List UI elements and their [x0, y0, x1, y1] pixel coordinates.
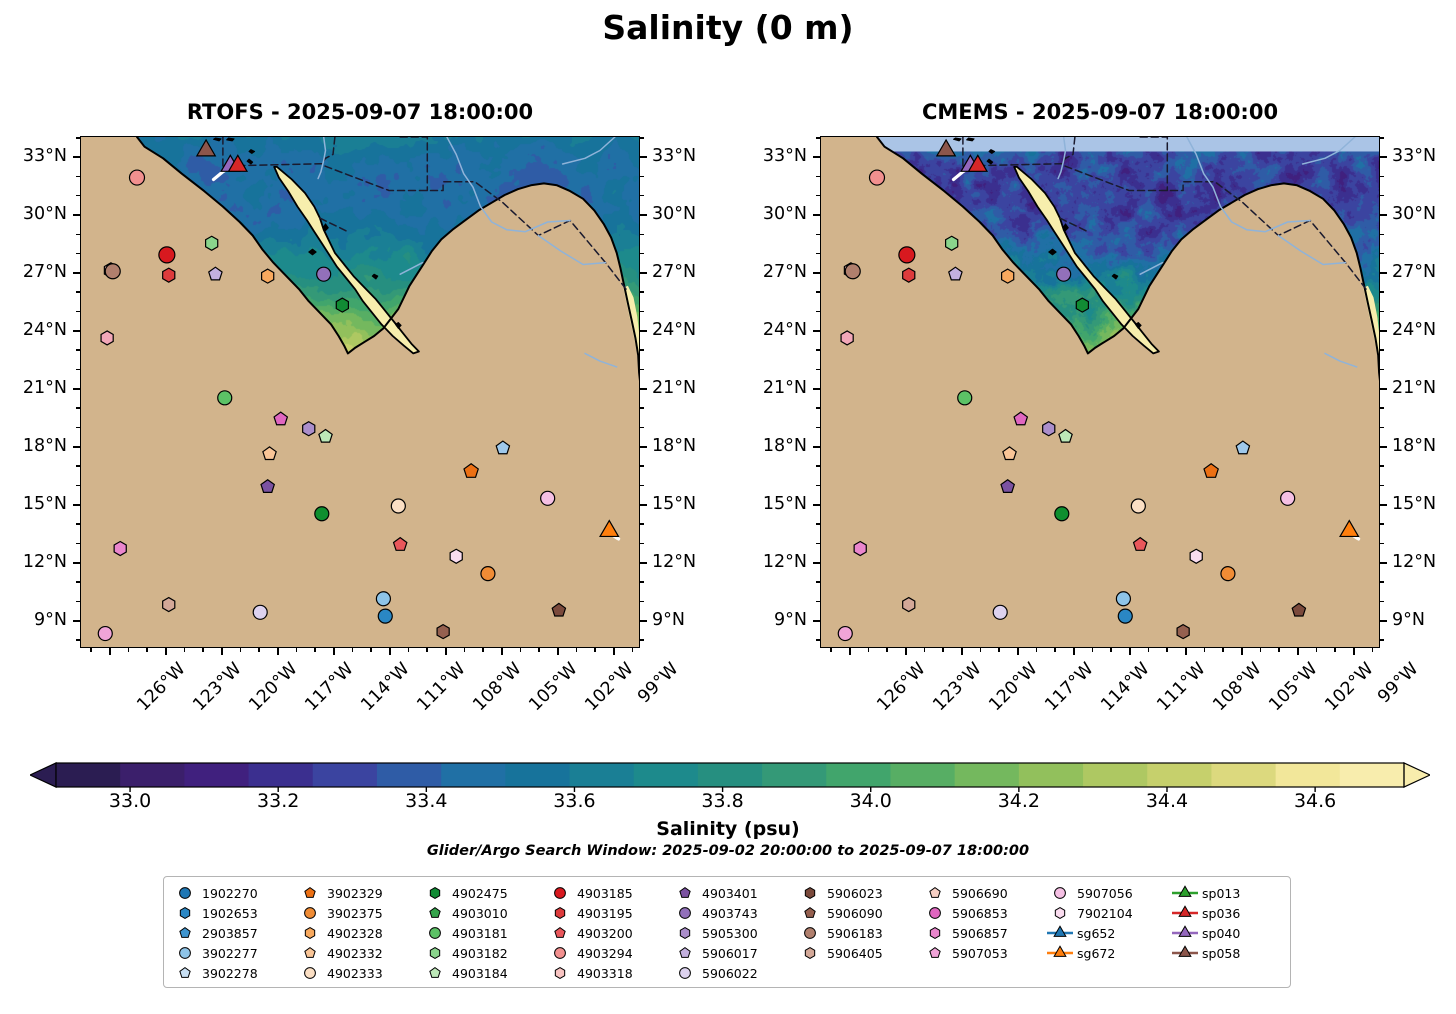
cmems-xminor--100: [1334, 648, 1336, 652]
cmems-xtick--126: [849, 648, 851, 655]
rtofs-xtick--102: [557, 648, 559, 655]
legend-item-sp013[interactable]: sp013: [1170, 883, 1295, 903]
marker-5906857[interactable]: [114, 542, 126, 556]
legend-marker-2903857: [170, 924, 200, 942]
rtofs-xtick--120: [221, 648, 223, 655]
colorbar-ticklabel: 33.0: [80, 790, 180, 812]
legend-item-1902270[interactable]: 1902270: [170, 883, 295, 903]
legend-item-sp058[interactable]: sp058: [1170, 943, 1295, 963]
marker-5905300[interactable]: [1043, 422, 1055, 436]
colorbar-ticklabel: 33.6: [524, 790, 624, 812]
island-2: [214, 138, 222, 141]
cmems-ytick-r-18: [1380, 446, 1387, 448]
legend-label: 4903182: [450, 946, 508, 961]
cmems-ylabel-r-9: 9°N: [1392, 610, 1456, 630]
cmems-ylabel-24: 24°N: [721, 320, 807, 340]
marker-3902277[interactable]: [376, 592, 390, 606]
legend-marker-5906017: [670, 944, 700, 962]
legend-marker-sg672: [1045, 944, 1075, 962]
legend-marker-5906405: [795, 944, 825, 962]
marker-4903185[interactable]: [899, 247, 915, 263]
cmems-ylabel-r-30: 30°N: [1392, 204, 1456, 224]
legend-item-7902104[interactable]: 7902104: [1045, 903, 1170, 923]
rtofs-yminor-25: [76, 311, 80, 313]
cmems-xminor--125: [868, 648, 870, 652]
legend-item-3902329[interactable]: 3902329: [295, 883, 420, 903]
rtofs-yminor-r-13: [640, 543, 644, 545]
rtofs-xtick--99: [613, 648, 615, 655]
rtofs-xminor--101: [576, 648, 578, 652]
marker-5906090[interactable]: [437, 625, 449, 639]
cmems-ylabel-21: 21°N: [721, 378, 807, 398]
cmems-yminor-20: [816, 407, 820, 409]
legend-label: sg652: [1075, 926, 1115, 941]
marker-5907053[interactable]: [838, 627, 852, 641]
marker-5906022[interactable]: [993, 605, 1007, 619]
rtofs-yminor-8: [76, 639, 80, 641]
rtofs-xminor--109: [426, 648, 428, 652]
rtofs-yminor-r-11: [640, 581, 644, 583]
rtofs-xtick--114: [333, 648, 335, 655]
cmems-ylabel-r-12: 12°N: [1392, 552, 1456, 572]
marker-5905300[interactable]: [303, 422, 315, 436]
legend-item-4902333[interactable]: 4902333: [295, 963, 420, 983]
legend-item-5906405[interactable]: 5906405: [795, 943, 920, 963]
marker-3902277[interactable]: [1116, 592, 1130, 606]
rtofs-yminor-28: [76, 253, 80, 255]
cmems-xminor--115: [1054, 648, 1056, 652]
legend-item-3902375[interactable]: 3902375: [295, 903, 420, 923]
rtofs-yminor-34: [76, 137, 80, 139]
legend-label: 3902375: [325, 906, 383, 921]
cmems-xminor--109: [1166, 648, 1168, 652]
rtofs-panel-title: RTOFS - 2025-09-07 18:00:00: [80, 100, 640, 124]
legend-item-5906022[interactable]: 5906022: [670, 963, 795, 983]
legend-marker-sp036: [1170, 904, 1200, 922]
rtofs-ytick-r-12: [640, 562, 647, 564]
cmems-xtick--123: [905, 648, 907, 655]
legend-item-4902332[interactable]: 4902332: [295, 943, 420, 963]
legend-marker-3902375: [295, 904, 325, 922]
cmems-yminor-23: [816, 349, 820, 351]
cmems-ylabel-12: 12°N: [721, 552, 807, 572]
cmems-ytick-30: [813, 214, 820, 216]
colorbar-extend-low: [30, 763, 56, 787]
legend-item-4903010[interactable]: 4903010: [420, 903, 545, 923]
legend-marker-4903182: [420, 944, 450, 962]
cmems-xminor--121: [942, 648, 944, 652]
cmems-xminor--119: [980, 648, 982, 652]
legend-item-4903184[interactable]: 4903184: [420, 963, 545, 983]
rtofs-yminor-r-8: [640, 639, 644, 641]
legend-label: 4903195: [575, 906, 633, 921]
rtofs-yminor-r-20: [640, 407, 644, 409]
marker-4903182[interactable]: [206, 236, 218, 250]
legend-item-4903181[interactable]: 4903181: [420, 923, 545, 943]
legend-item-5906017[interactable]: 5906017: [670, 943, 795, 963]
cmems-xtick--111: [1129, 648, 1131, 655]
legend-marker-5907056: [1045, 884, 1075, 902]
rtofs-yminor-31: [76, 195, 80, 197]
legend-item-sp036[interactable]: sp036: [1170, 903, 1295, 923]
marker-4902333[interactable]: [391, 499, 405, 513]
legend-label: 5906090: [825, 906, 883, 921]
legend-label: 4903318: [575, 966, 633, 981]
cmems-yminor-r-32: [1380, 176, 1384, 178]
cmems-yminor-r-13: [1380, 543, 1384, 545]
cmems-yminor-r-25: [1380, 311, 1384, 313]
legend-item-4903294[interactable]: 4903294: [545, 943, 670, 963]
colorbar-segment: [1276, 763, 1341, 787]
cmems-yminor-17: [816, 465, 820, 467]
legend-grid: 1902270390232949024754903185490340159060…: [170, 883, 1295, 983]
rtofs-xtick--117: [277, 648, 279, 655]
legend-item-5906183[interactable]: 5906183: [795, 923, 920, 943]
legend-label: 1902653: [200, 906, 258, 921]
cmems-ylabel-r-21: 21°N: [1392, 378, 1456, 398]
legend-label: 5905300: [700, 926, 758, 941]
cmems-ytick-33: [813, 156, 820, 158]
rtofs-xminor--103: [538, 648, 540, 652]
cmems-ytick-r-21: [1380, 388, 1387, 390]
cmems-xlabel--105: 105°W: [1265, 659, 1321, 715]
legend-marker-4903294: [545, 944, 575, 962]
rtofs-xlabel--99: 99°W: [634, 659, 682, 707]
cmems-ylabel-r-24: 24°N: [1392, 320, 1456, 340]
marker-5906022[interactable]: [253, 605, 267, 619]
marker-4903743[interactable]: [317, 267, 331, 281]
legend-item-4902328[interactable]: 4902328: [295, 923, 420, 943]
marker-4902332b[interactable]: [903, 598, 915, 612]
legend-marker-4903010: [420, 904, 450, 922]
cmems-yminor-29: [816, 234, 820, 236]
colorbar-segment: [1083, 763, 1148, 787]
marker-4902332b[interactable]: [163, 598, 175, 612]
marker-5906090[interactable]: [1177, 625, 1189, 639]
marker-4903743[interactable]: [1057, 267, 1071, 281]
rtofs-ytick-12: [73, 562, 80, 564]
legend-label: 4902475: [450, 886, 508, 901]
cmems-xlabel--108: 108°W: [1209, 659, 1265, 715]
rtofs-xtick--105: [501, 648, 503, 655]
cmems-ytick-18: [813, 446, 820, 448]
rtofs-xminor--119: [240, 648, 242, 652]
cmems-xminor--122: [924, 648, 926, 652]
legend-item-5907053[interactable]: 5907053: [920, 943, 1045, 963]
legend-marker-5906690: [920, 884, 950, 902]
river-0: [318, 137, 325, 179]
marker-4903181[interactable]: [958, 391, 972, 405]
cmems-xtick--105: [1241, 648, 1243, 655]
figure-canvas: Salinity (0 m) RTOFS - 2025-09-07 18:00:…: [0, 0, 1456, 1014]
legend-label: 7902104: [1075, 906, 1133, 921]
legend-item-empty: [1170, 963, 1295, 983]
legend-marker-3902278: [170, 964, 200, 982]
marker-7902104[interactable]: [1190, 549, 1202, 563]
cmems-yminor-25: [816, 311, 820, 313]
rtofs-ytick-9: [73, 620, 80, 622]
marker-4903185[interactable]: [159, 247, 175, 263]
rtofs-yminor-r-34: [640, 137, 644, 139]
cmems-xtick--108: [1185, 648, 1187, 655]
marker-1902653[interactable]: [378, 609, 392, 623]
legend-label: sp036: [1200, 906, 1240, 921]
cmems-ylabel-r-27: 27°N: [1392, 262, 1456, 282]
legend-marker-4902475: [420, 884, 450, 902]
rtofs-map-panel[interactable]: [80, 136, 640, 648]
legend-marker-5907053: [920, 944, 950, 962]
colorbar-segment: [634, 763, 699, 787]
cmems-map-panel[interactable]: [820, 136, 1380, 648]
rtofs-xminor--106: [482, 648, 484, 652]
rtofs-yminor-r-17: [640, 465, 644, 467]
legend-label: 4903010: [450, 906, 508, 921]
border-2: [400, 137, 427, 191]
cmems-ytick-r-9: [1380, 620, 1387, 622]
marker-5907056[interactable]: [541, 491, 555, 505]
marker-4903294[interactable]: [870, 170, 885, 185]
marker-3902375[interactable]: [1221, 567, 1235, 581]
colorbar-segment: [1340, 763, 1405, 787]
legend-item-4903743[interactable]: 4903743: [670, 903, 795, 923]
rtofs-xminor--107: [464, 648, 466, 652]
legend-item-sg672[interactable]: sg672: [1045, 943, 1170, 963]
rtofs-yminor-r-16: [640, 485, 644, 487]
rtofs-yminor-r-14: [640, 523, 644, 525]
cmems-xlabel--111: 111°W: [1153, 659, 1209, 715]
legend-label: 5906017: [700, 946, 758, 961]
marker-4903195[interactable]: [903, 268, 915, 282]
salinity-colorbar[interactable]: [30, 762, 1430, 792]
marker-1902653[interactable]: [1118, 609, 1132, 623]
marker-4902333[interactable]: [1131, 499, 1145, 513]
legend-marker-3902329: [295, 884, 325, 902]
cmems-xtick--117: [1017, 648, 1019, 655]
rtofs-xminor--122: [184, 648, 186, 652]
legend-item-4903182[interactable]: 4903182: [420, 943, 545, 963]
marker-4903294b[interactable]: [841, 331, 853, 345]
cmems-ytick-r-24: [1380, 330, 1387, 332]
cmems-xlabel--114: 114°W: [1097, 659, 1153, 715]
legend-marker-sp013: [1170, 884, 1200, 902]
marker-4902475[interactable]: [336, 298, 348, 312]
marker-5906183[interactable]: [105, 264, 120, 279]
legend-item-sp040[interactable]: sp040: [1170, 923, 1295, 943]
cmems-ylabel-15: 15°N: [721, 494, 807, 514]
cmems-yminor-r-29: [1380, 234, 1384, 236]
cmems-panel-title: CMEMS - 2025-09-07 18:00:00: [820, 100, 1380, 124]
marker-4902475[interactable]: [1076, 298, 1088, 312]
legend-marker-5906090: [795, 904, 825, 922]
colorbar-svg[interactable]: [30, 762, 1430, 792]
rtofs-ytick-r-9: [640, 620, 647, 622]
rtofs-xminor--104: [520, 648, 522, 652]
legend-marker-1902270: [170, 884, 200, 902]
marker-3902375[interactable]: [481, 567, 495, 581]
cmems-ylabel-30: 30°N: [721, 204, 807, 224]
rtofs-yminor-r-28: [640, 253, 644, 255]
rtofs-yminor-r-31: [640, 195, 644, 197]
legend-item-1902653[interactable]: 1902653: [170, 903, 295, 923]
legend-item-4902475[interactable]: 4902475: [420, 883, 545, 903]
colorbar-segment: [505, 763, 570, 787]
legend-marker-4903318: [545, 964, 575, 982]
cmems-yminor-13: [816, 543, 820, 545]
legend-item-sg652[interactable]: sg652: [1045, 923, 1170, 943]
legend-marker-5906022: [670, 964, 700, 982]
marker-5907056[interactable]: [1281, 491, 1295, 505]
cmems-yminor-r-10: [1380, 601, 1384, 603]
legend-label: 4902332: [325, 946, 383, 961]
colorbar-ticklabel: 34.4: [1117, 790, 1217, 812]
marker-4903010[interactable]: [315, 507, 329, 521]
rtofs-ytick-r-27: [640, 272, 647, 274]
legend-item-2903857[interactable]: 2903857: [170, 923, 295, 943]
cmems-xminor--98: [1372, 648, 1374, 652]
cmems-xlabel--120: 120°W: [985, 659, 1041, 715]
colorbar-segment: [762, 763, 827, 787]
marker-4903195[interactable]: [163, 268, 175, 282]
legend-label: 2903857: [200, 926, 258, 941]
rtofs-xtick--126: [109, 648, 111, 655]
legend-item-4903185[interactable]: 4903185: [545, 883, 670, 903]
legend-label: sp013: [1200, 886, 1240, 901]
cmems-xtick--114: [1073, 648, 1075, 655]
cmems-xminor--118: [998, 648, 1000, 652]
cmems-ylabel-r-15: 15°N: [1392, 494, 1456, 514]
cmems-xminor--110: [1148, 648, 1150, 652]
rtofs-ytick-15: [73, 504, 80, 506]
marker-4902328[interactable]: [1002, 269, 1014, 283]
legend-item-empty: [920, 963, 1045, 983]
marker-4903181[interactable]: [218, 391, 232, 405]
rtofs-xlabel--102: 102°W: [581, 659, 637, 715]
cmems-yminor-34: [816, 137, 820, 139]
cmems-yminor-16: [816, 485, 820, 487]
marker-5906183[interactable]: [845, 264, 860, 279]
marker-4903294[interactable]: [130, 170, 145, 185]
legend-item-5906023[interactable]: 5906023: [795, 883, 920, 903]
legend-label: 5906022: [700, 966, 758, 981]
colorbar-segment: [955, 763, 1020, 787]
rtofs-ylabel-33: 33°N: [0, 146, 67, 166]
rtofs-xminor--116: [296, 648, 298, 652]
marker-4902328[interactable]: [262, 269, 274, 283]
colorbar-segment: [120, 763, 185, 787]
cmems-xminor--104: [1260, 648, 1262, 652]
island-0: [249, 150, 255, 154]
island-1: [227, 138, 235, 141]
legend-item-4903195[interactable]: 4903195: [545, 903, 670, 923]
marker-4903010[interactable]: [1055, 507, 1069, 521]
rtofs-ylabel-21: 21°N: [0, 378, 67, 398]
cmems-yminor-19: [816, 427, 820, 429]
legend-item-3902277[interactable]: 3902277: [170, 943, 295, 963]
cmems-xminor--106: [1222, 648, 1224, 652]
legend-item-4903318[interactable]: 4903318: [545, 963, 670, 983]
legend-marker-4903185: [545, 884, 575, 902]
legend-marker-5906023: [795, 884, 825, 902]
legend-marker-sg652: [1045, 924, 1075, 942]
cmems-xminor--101: [1316, 648, 1318, 652]
legend-item-4903401[interactable]: 4903401: [670, 883, 795, 903]
marker-sp058[interactable]: [197, 140, 215, 156]
legend-item-5906090[interactable]: 5906090: [795, 903, 920, 923]
marker-4903182[interactable]: [946, 236, 958, 250]
cmems-xminor--112: [1110, 648, 1112, 652]
marker-4903294b[interactable]: [101, 331, 113, 345]
cmems-ytick-r-12: [1380, 562, 1387, 564]
cmems-ylabel-9: 9°N: [721, 610, 807, 630]
rtofs-ytick-30: [73, 214, 80, 216]
legend-label: 4903200: [575, 926, 633, 941]
marker-5906857[interactable]: [854, 542, 866, 556]
colorbar-segment: [1147, 763, 1212, 787]
cmems-ylabel-18: 18°N: [721, 436, 807, 456]
legend-item-3902278[interactable]: 3902278: [170, 963, 295, 983]
legend-marker-5906183: [795, 924, 825, 942]
rtofs-yminor-26: [76, 291, 80, 293]
rtofs-xminor--98: [632, 648, 634, 652]
legend-label: 4902333: [325, 966, 383, 981]
legend-marker-sp058: [1170, 944, 1200, 962]
legend-item-5906857[interactable]: 5906857: [920, 923, 1045, 943]
rtofs-xlabel--108: 108°W: [469, 659, 525, 715]
legend-item-5907056[interactable]: 5907056: [1045, 883, 1170, 903]
colorbar-extend-high: [1404, 763, 1430, 787]
rtofs-ylabel-15: 15°N: [0, 494, 67, 514]
legend-label: 5906857: [950, 926, 1008, 941]
legend-marker-4903195: [545, 904, 575, 922]
legend-label: 4903185: [575, 886, 633, 901]
rtofs-xminor--127: [90, 648, 92, 652]
river-2: [563, 137, 615, 164]
legend-item-empty: [1045, 963, 1170, 983]
marker-5907053[interactable]: [98, 627, 112, 641]
cmems-yminor-r-16: [1380, 485, 1384, 487]
cmems-yminor-32: [816, 176, 820, 178]
rtofs-yminor-r-29: [640, 234, 644, 236]
legend-label: 5907056: [1075, 886, 1133, 901]
legend-item-5905300[interactable]: 5905300: [670, 923, 795, 943]
island-6: [372, 274, 378, 279]
legend-marker-4902332: [295, 944, 325, 962]
cmems-ytick-r-27: [1380, 272, 1387, 274]
rtofs-yminor-22: [76, 369, 80, 371]
island-1: [967, 138, 975, 141]
cmems-yminor-8: [816, 639, 820, 641]
search-window-text: Glider/Argo Search Window: 2025-09-02 20…: [0, 843, 1456, 859]
cmems-xlabel--123: 123°W: [929, 659, 985, 715]
rtofs-ylabel-24: 24°N: [0, 320, 67, 340]
cmems-ytick-r-30: [1380, 214, 1387, 216]
legend-label: 4903401: [700, 886, 758, 901]
rtofs-xminor--113: [352, 648, 354, 652]
cmems-ytick-24: [813, 330, 820, 332]
legend-item-5906690[interactable]: 5906690: [920, 883, 1045, 903]
rtofs-yminor-17: [76, 465, 80, 467]
rtofs-xtick--108: [445, 648, 447, 655]
rtofs-xtick--111: [389, 648, 391, 655]
cmems-yminor-31: [816, 195, 820, 197]
marker-7902104[interactable]: [450, 549, 462, 563]
colorbar-segment: [1211, 763, 1276, 787]
colorbar-segment: [313, 763, 378, 787]
no-data-band: [821, 137, 1380, 151]
legend-item-4903200[interactable]: 4903200: [545, 923, 670, 943]
legend-item-5906853[interactable]: 5906853: [920, 903, 1045, 923]
cmems-yminor-10: [816, 601, 820, 603]
